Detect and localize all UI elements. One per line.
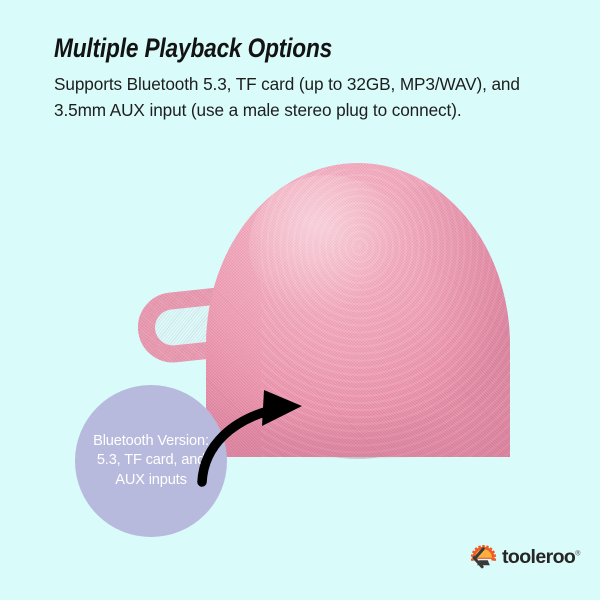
brand-wordmark-text: tooleroo — [502, 546, 575, 568]
tooleroo-gear-icon — [470, 545, 497, 572]
body-copy: Supports Bluetooth 5.3, TF card (up to 3… — [54, 72, 546, 123]
body-copy-line-1: Supports Bluetooth 5.3, TF card (up to 3… — [54, 74, 520, 94]
brand-trademark: ® — [575, 551, 580, 558]
brand-wordmark: tooleroo® — [502, 548, 580, 568]
text-block: Multiple Playback Options Supports Bluet… — [54, 34, 546, 123]
brand-logo: tooleroo® — [470, 543, 582, 573]
page-title: Multiple Playback Options — [54, 34, 467, 63]
promo-graphic: Multiple Playback Options Supports Bluet… — [0, 0, 600, 600]
pointer-arrow-icon — [180, 370, 340, 490]
body-copy-line-2: 3.5mm AUX input (use a male stereo plug … — [54, 100, 462, 120]
